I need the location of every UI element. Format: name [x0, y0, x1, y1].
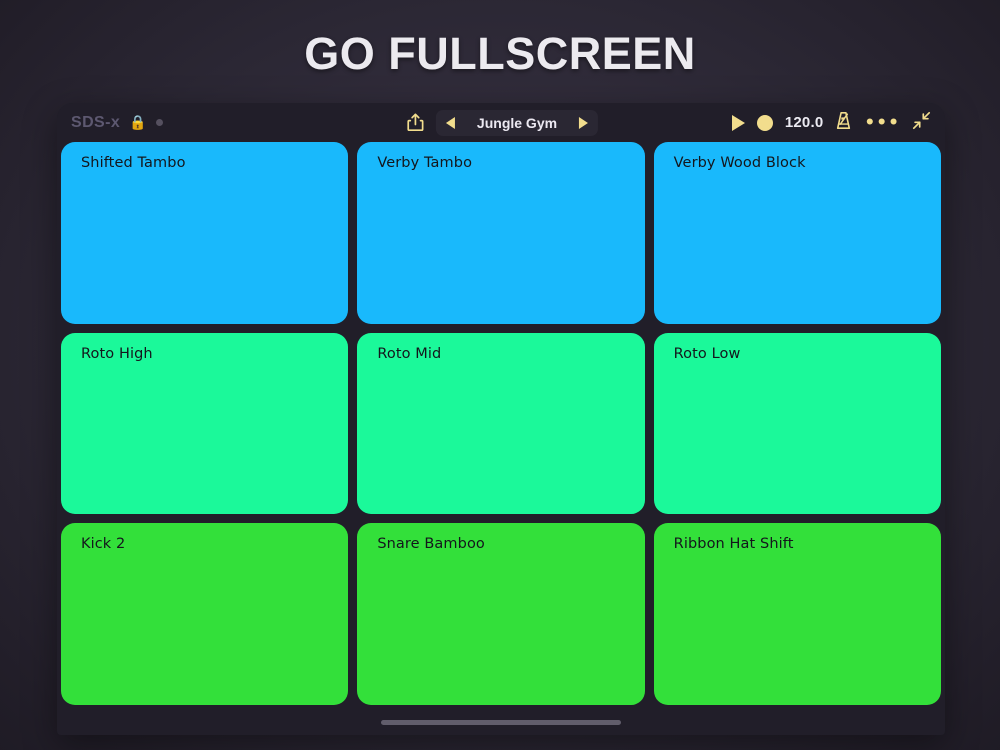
- pad-label: Shifted Tambo: [81, 155, 186, 171]
- song-name-label: Jungle Gym: [463, 115, 571, 131]
- drum-pad[interactable]: Roto High: [61, 333, 348, 515]
- drum-pad[interactable]: Snare Bamboo: [357, 523, 644, 705]
- pad-label: Ribbon Hat Shift: [674, 536, 794, 552]
- home-indicator[interactable]: [381, 720, 621, 725]
- next-triangle-icon[interactable]: [579, 117, 588, 129]
- collapse-fullscreen-icon[interactable]: [912, 111, 931, 134]
- pad-label: Roto High: [81, 346, 153, 362]
- play-icon[interactable]: [732, 115, 745, 131]
- drum-pad[interactable]: Ribbon Hat Shift: [654, 523, 941, 705]
- song-selector[interactable]: Jungle Gym: [436, 110, 598, 136]
- drum-pad[interactable]: Roto Low: [654, 333, 941, 515]
- app-name-label: SDS-x: [71, 114, 120, 132]
- previous-triangle-icon[interactable]: [446, 117, 455, 129]
- lock-icon[interactable]: 🔒: [129, 116, 146, 130]
- status-dot-icon: [156, 119, 163, 126]
- drum-pad[interactable]: Shifted Tambo: [61, 142, 348, 324]
- pad-label: Snare Bamboo: [377, 536, 485, 552]
- pad-label: Verby Wood Block: [674, 155, 806, 171]
- pad-label: Kick 2: [81, 536, 125, 552]
- home-indicator-area: [57, 709, 945, 735]
- drum-pad[interactable]: Verby Tambo: [357, 142, 644, 324]
- drum-pad[interactable]: Verby Wood Block: [654, 142, 941, 324]
- more-options-icon[interactable]: •••: [864, 119, 900, 127]
- transport-navigation-group: Jungle Gym: [404, 110, 598, 136]
- toolbar-right-group: 120.0 •••: [732, 111, 931, 134]
- toolbar-left-group: SDS-x 🔒: [71, 114, 163, 132]
- device-frame: SDS-x 🔒 Jungle Gym 120.0: [57, 103, 945, 735]
- drum-pad[interactable]: Kick 2: [61, 523, 348, 705]
- app-toolbar: SDS-x 🔒 Jungle Gym 120.0: [57, 103, 945, 142]
- page-title: GO FULLSCREEN: [0, 28, 1000, 80]
- pad-label: Roto Mid: [377, 346, 441, 362]
- metronome-icon[interactable]: [835, 111, 852, 134]
- drum-pad[interactable]: Roto Mid: [357, 333, 644, 515]
- record-icon[interactable]: [757, 115, 773, 131]
- share-icon[interactable]: [404, 112, 426, 134]
- pad-grid: Shifted Tambo Verby Tambo Verby Wood Blo…: [57, 142, 945, 709]
- pad-label: Verby Tambo: [377, 155, 472, 171]
- tempo-value[interactable]: 120.0: [785, 114, 824, 131]
- pad-label: Roto Low: [674, 346, 741, 362]
